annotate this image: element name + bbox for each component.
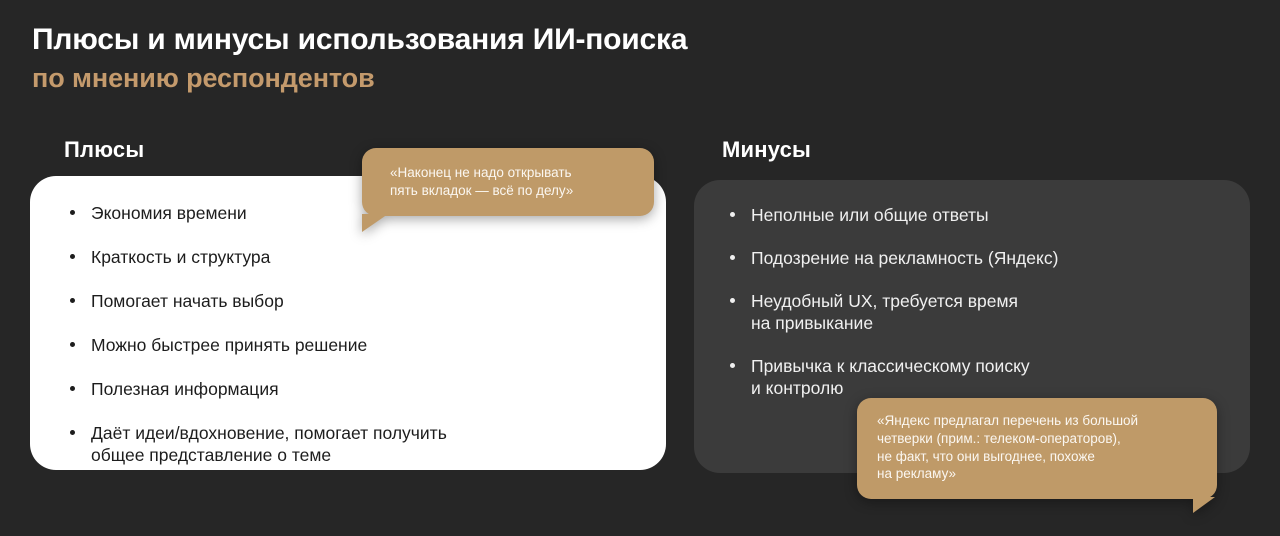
page-subtitle: по мнению респондентов (32, 62, 1032, 96)
cons-list: Неполные или общие ответы Подозрение на … (724, 204, 1220, 399)
list-item: Привычка к классическому поиску и контро… (724, 355, 1220, 399)
slide-root: Плюсы и минусы использования ИИ-поиска п… (0, 0, 1280, 536)
pros-card: Экономия времени Краткость и структура П… (30, 176, 666, 470)
quote-text: «Наконец не надо открывать пять вкладок … (390, 164, 634, 200)
quote-text: «Яндекс предлагал перечень из большой че… (877, 412, 1199, 483)
list-item: Даёт идеи/вдохновение, помогает получить… (64, 422, 632, 466)
list-item: Краткость и структура (64, 246, 632, 268)
list-item: Неудобный UX, требуется время на привыка… (724, 290, 1220, 334)
title-block: Плюсы и минусы использования ИИ-поиска п… (32, 22, 1032, 95)
pros-heading: Плюсы (64, 137, 144, 163)
quote-bubble-cons: «Яндекс предлагал перечень из большой че… (857, 398, 1217, 499)
page-title: Плюсы и минусы использования ИИ-поиска (32, 22, 1032, 59)
list-item: Подозрение на рекламность (Яндекс) (724, 247, 1220, 269)
quote-bubble-pros: «Наконец не надо открывать пять вкладок … (362, 148, 654, 216)
cons-heading: Минусы (722, 137, 811, 163)
list-item: Помогает начать выбор (64, 290, 632, 312)
list-item: Можно быстрее принять решение (64, 334, 632, 356)
pros-list: Экономия времени Краткость и структура П… (64, 202, 632, 466)
list-item: Полезная информация (64, 378, 632, 400)
list-item: Неполные или общие ответы (724, 204, 1220, 226)
